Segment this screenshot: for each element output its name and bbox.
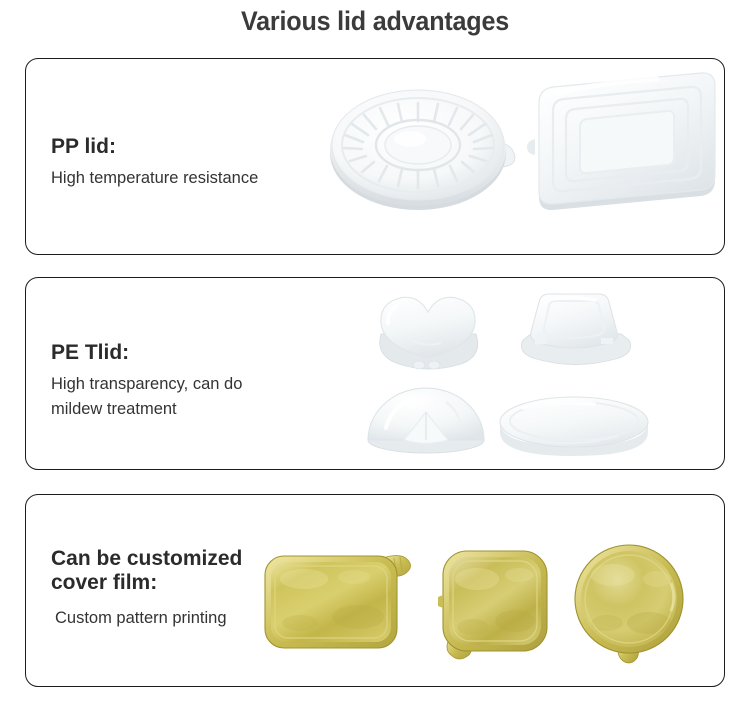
pet-text-block: PE Tlid: High transparency, can do milde… [51, 341, 242, 423]
film-square-lid-image [431, 545, 561, 665]
pp-rectangular-lid-image [513, 65, 725, 220]
panel-cover-film: Can be customized cover film: Custom pat… [25, 494, 725, 687]
pet-oval-lid-image [494, 388, 654, 458]
pp-subtitle: High temperature resistance [51, 166, 258, 192]
film-rectangular-lid-image [258, 543, 428, 658]
pet-square-lid-image [509, 288, 639, 378]
pp-heading: PP lid: [51, 135, 258, 159]
pet-dome-lid-image [364, 378, 489, 458]
pet-subtitle: High transparency, can do mildew treatme… [51, 372, 242, 423]
film-heading: Can be customized cover film: [51, 547, 242, 594]
panel-pet-lid: PE Tlid: High transparency, can do milde… [25, 277, 725, 470]
pet-heading: PE Tlid: [51, 341, 242, 365]
page-title: Various lid advantages [26, 6, 724, 37]
pp-round-lid-image [326, 71, 526, 221]
pp-text-block: PP lid: High temperature resistance [51, 135, 258, 191]
pet-heart-lid-image [361, 286, 496, 381]
panel-pp-lid: PP lid: High temperature resistance [25, 58, 725, 255]
film-text-block: Can be customized cover film: Custom pat… [51, 547, 242, 632]
film-subtitle: Custom pattern printing [55, 606, 242, 632]
film-round-lid-image [567, 543, 697, 668]
